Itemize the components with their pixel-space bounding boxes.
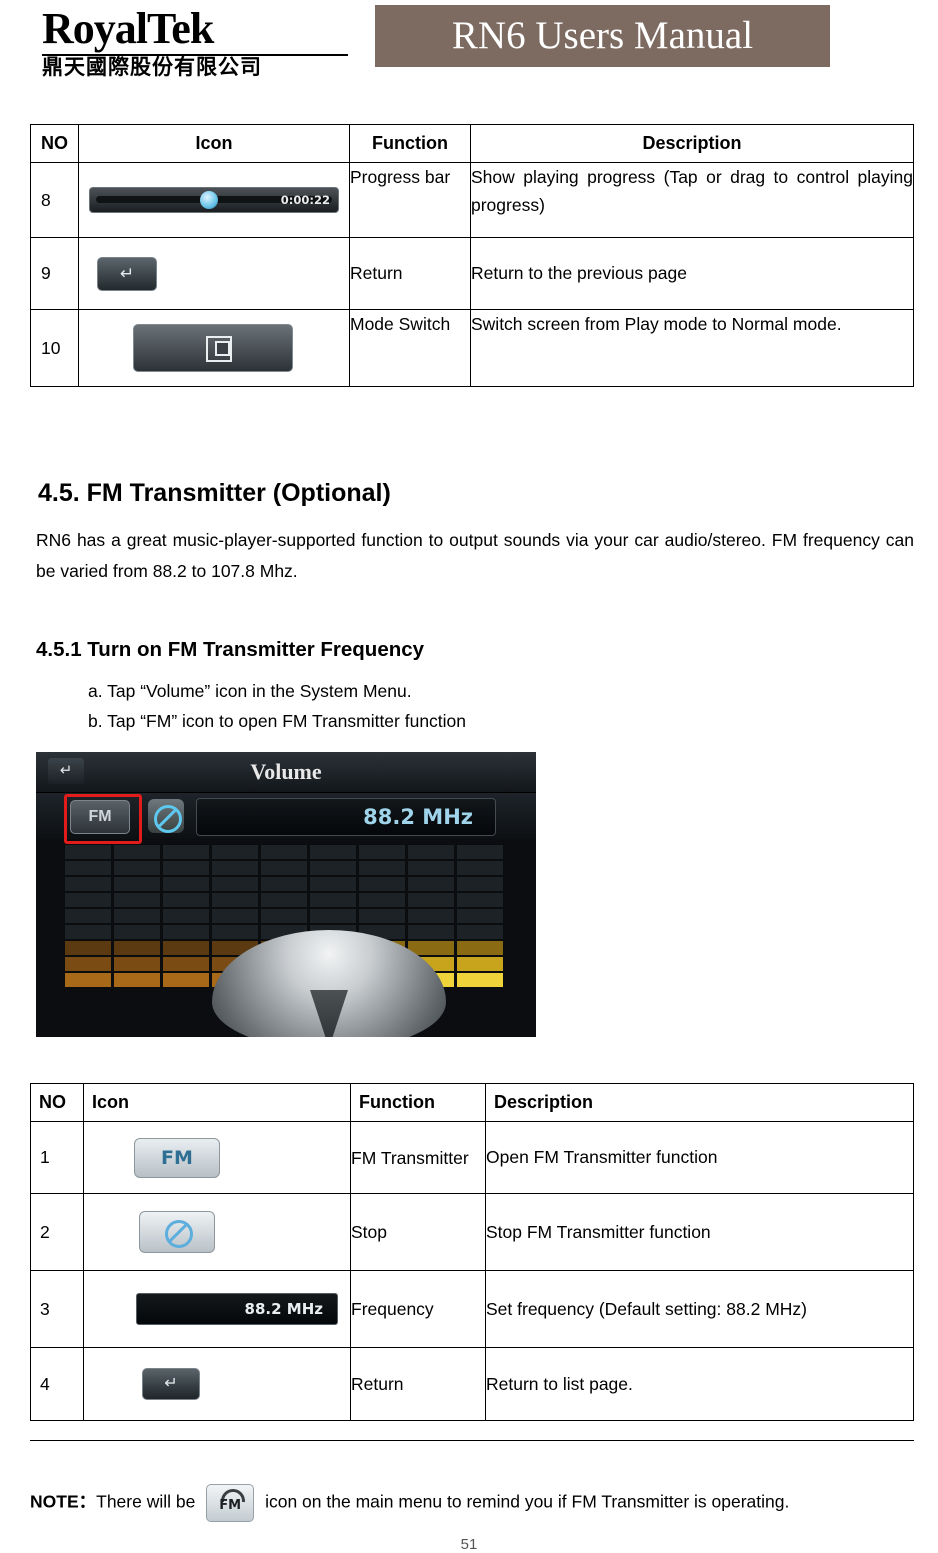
- section-paragraph: RN6 has a great music-player-supported f…: [36, 525, 914, 587]
- progress-time-label: 0:00:22: [281, 188, 330, 212]
- description-cell: Return to list page.: [486, 1348, 914, 1421]
- equalizer-segment: [309, 908, 357, 924]
- manual-title-banner: RN6 Users Manual: [375, 5, 830, 67]
- equalizer-segment: [64, 940, 112, 956]
- frequency-field-icon[interactable]: 88.2 MHz: [136, 1293, 338, 1325]
- description-cell: Stop FM Transmitter function: [486, 1194, 914, 1271]
- return-icon[interactable]: ↵: [97, 257, 157, 291]
- logo-divider: [42, 54, 348, 56]
- stop-icon[interactable]: [139, 1211, 215, 1253]
- table-row: 4 ↵ Return Return to list page.: [31, 1348, 914, 1421]
- function-cell: Return: [351, 1348, 486, 1421]
- knob-notch: [310, 990, 348, 1037]
- equalizer-segment: [309, 860, 357, 876]
- equalizer-segment: [113, 876, 161, 892]
- logo-chinese-name: 鼎天國際股份有限公司: [42, 54, 362, 80]
- row-number: 1: [31, 1122, 84, 1194]
- equalizer-segment: [64, 892, 112, 908]
- icon-cell: ↵: [79, 238, 350, 310]
- row-number: 2: [31, 1194, 84, 1271]
- equalizer-segment: [309, 876, 357, 892]
- icon-cell: 88.2 MHz: [84, 1271, 351, 1348]
- equalizer-segment: [260, 908, 308, 924]
- function-cell: FM Transmitter: [351, 1122, 486, 1194]
- equalizer-segment: [162, 892, 210, 908]
- function-cell: Mode Switch: [350, 310, 471, 387]
- column-header-function: Function: [350, 125, 471, 163]
- fm-status-icon-label: FM: [207, 1493, 253, 1519]
- equalizer-segment: [211, 908, 259, 924]
- step-item-a: a. Tap “Volume” icon in the System Menu.: [88, 676, 412, 706]
- table-header-row: NO Icon Function Description: [31, 1084, 914, 1122]
- equalizer-segment: [407, 908, 455, 924]
- column-header-no: NO: [31, 1084, 84, 1122]
- equalizer-segment: [162, 908, 210, 924]
- equalizer-segment: [456, 972, 504, 988]
- equalizer-segment: [456, 956, 504, 972]
- progress-bar-icon[interactable]: 0:00:22: [89, 187, 339, 213]
- royaltek-logo: RoyalTek 鼎天國際股份有限公司: [42, 4, 362, 80]
- manual-page: RoyalTek 鼎天國際股份有限公司 RN6 Users Manual NO …: [0, 0, 938, 1551]
- screenshot-frequency-value: 88.2 MHz: [363, 799, 473, 835]
- screenshot-frequency-field[interactable]: 88.2 MHz: [196, 798, 496, 836]
- icon-table-fm: NO Icon Function Description 1 FM FM Tra…: [30, 1083, 914, 1421]
- equalizer-segment: [113, 972, 161, 988]
- row-number: 8: [31, 163, 79, 238]
- equalizer-segment: [162, 876, 210, 892]
- equalizer-segment: [162, 924, 210, 940]
- equalizer-segment: [113, 844, 161, 860]
- frequency-field-value: 88.2 MHz: [245, 1294, 323, 1324]
- equalizer-segment: [260, 844, 308, 860]
- table-row: 8 0:00:22 Progress bar Show playing prog…: [31, 163, 914, 238]
- equalizer-segment: [358, 844, 406, 860]
- icon-cell: 0:00:22: [79, 163, 350, 238]
- equalizer-segment: [309, 844, 357, 860]
- equalizer-segment: [358, 876, 406, 892]
- equalizer-segment: [211, 844, 259, 860]
- row-number: 9: [31, 238, 79, 310]
- equalizer-segment: [407, 924, 455, 940]
- equalizer-segment: [162, 940, 210, 956]
- column-header-no: NO: [31, 125, 79, 163]
- icon-cell: ↵: [84, 1348, 351, 1421]
- screenshot-stop-button[interactable]: [148, 799, 184, 833]
- equalizer-segment: [456, 876, 504, 892]
- note-line: NOTE：There will be FM icon on the main m…: [30, 1484, 914, 1522]
- logo-wordmark: RoyalTek: [42, 4, 362, 54]
- equalizer-segment: [162, 956, 210, 972]
- equalizer-segment: [162, 972, 210, 988]
- equalizer-segment: [358, 860, 406, 876]
- equalizer-segment: [407, 892, 455, 908]
- equalizer-segment: [211, 892, 259, 908]
- page-title: RN6 Users Manual: [375, 5, 830, 67]
- table-row: 3 88.2 MHz Frequency Set frequency (Defa…: [31, 1271, 914, 1348]
- function-cell: Progress bar: [350, 163, 471, 238]
- return-icon[interactable]: ↵: [142, 1368, 200, 1400]
- function-cell: Return: [350, 238, 471, 310]
- equalizer-segment: [113, 892, 161, 908]
- equalizer-segment: [456, 940, 504, 956]
- row-number: 3: [31, 1271, 84, 1348]
- equalizer-segment: [260, 892, 308, 908]
- row-number: 4: [31, 1348, 84, 1421]
- equalizer-segment: [113, 956, 161, 972]
- description-cell: Switch screen from Play mode to Normal m…: [471, 310, 914, 387]
- icon-cell: FM: [84, 1122, 351, 1194]
- description-cell: Return to the previous page: [471, 238, 914, 310]
- equalizer-segment: [64, 876, 112, 892]
- fm-icon[interactable]: FM: [134, 1138, 220, 1178]
- equalizer-segment: [64, 908, 112, 924]
- equalizer-segment: [162, 860, 210, 876]
- note-text-before: There will be: [96, 1492, 195, 1512]
- table-header-row: NO Icon Function Description: [31, 125, 914, 163]
- stop-icon: [154, 805, 182, 833]
- equalizer-segment: [211, 924, 259, 940]
- equalizer-segment: [309, 892, 357, 908]
- description-cell: Show playing progress (Tap or drag to co…: [471, 163, 914, 238]
- equalizer-segment: [113, 924, 161, 940]
- description-cell: Open FM Transmitter function: [486, 1122, 914, 1194]
- screenshot-return-icon[interactable]: ↵: [48, 758, 84, 784]
- equalizer-segment: [260, 876, 308, 892]
- equalizer-segment: [407, 876, 455, 892]
- equalizer-segment: [407, 860, 455, 876]
- description-cell: Set frequency (Default setting: 88.2 MHz…: [486, 1271, 914, 1348]
- subsection-heading: 4.5.1 Turn on FM Transmitter Frequency: [36, 638, 424, 662]
- column-header-icon: Icon: [79, 125, 350, 163]
- icon-table-playmode: NO Icon Function Description 8 0:00:22 P…: [30, 124, 914, 387]
- fm-status-icon: FM: [206, 1484, 254, 1522]
- equalizer-segment: [456, 924, 504, 940]
- equalizer-segment: [113, 908, 161, 924]
- equalizer-segment: [64, 972, 112, 988]
- progress-thumb[interactable]: [200, 191, 218, 209]
- step-item-b: b. Tap “FM” icon to open FM Transmitter …: [88, 706, 466, 736]
- equalizer-segment: [260, 860, 308, 876]
- equalizer-segment: [64, 844, 112, 860]
- function-cell: Stop: [351, 1194, 486, 1271]
- page-number: 51: [0, 1536, 938, 1553]
- mode-switch-glyph: [206, 336, 232, 362]
- equalizer-segment: [456, 844, 504, 860]
- footer-divider: [30, 1440, 914, 1441]
- equalizer-segment: [113, 940, 161, 956]
- mode-switch-icon[interactable]: [133, 324, 293, 372]
- table-row: 1 FM FM Transmitter Open FM Transmitter …: [31, 1122, 914, 1194]
- section-heading: 4.5. FM Transmitter (Optional): [38, 479, 391, 508]
- equalizer-segment: [456, 892, 504, 908]
- table-row: 10 Mode Switch Switch screen from Play m…: [31, 310, 914, 387]
- equalizer-segment: [162, 844, 210, 860]
- column-header-description: Description: [471, 125, 914, 163]
- equalizer-segment: [64, 924, 112, 940]
- stop-glyph: [165, 1220, 193, 1248]
- table-row: 9 ↵ Return Return to the previous page: [31, 238, 914, 310]
- icon-cell: [79, 310, 350, 387]
- row-number: 10: [31, 310, 79, 387]
- equalizer-segment: [64, 956, 112, 972]
- column-header-icon: Icon: [84, 1084, 351, 1122]
- volume-screen-screenshot: Volume ↵ FM 88.2 MHz: [36, 752, 536, 1037]
- note-label: NOTE：: [30, 1492, 96, 1512]
- fm-highlight-box: [64, 794, 142, 844]
- screenshot-title: Volume: [36, 752, 536, 792]
- equalizer-segment: [358, 908, 406, 924]
- page-header: RoyalTek 鼎天國際股份有限公司 RN6 Users Manual: [0, 0, 938, 100]
- table-row: 2 Stop Stop FM Transmitter function: [31, 1194, 914, 1271]
- equalizer-segment: [456, 860, 504, 876]
- equalizer-segment: [211, 860, 259, 876]
- column-header-function: Function: [351, 1084, 486, 1122]
- function-cell: Frequency: [351, 1271, 486, 1348]
- note-text-after: icon on the main menu to remind you if F…: [265, 1492, 789, 1512]
- equalizer-segment: [358, 892, 406, 908]
- icon-cell: [84, 1194, 351, 1271]
- equalizer-segment: [456, 908, 504, 924]
- equalizer-segment: [113, 860, 161, 876]
- equalizer-segment: [211, 876, 259, 892]
- equalizer-segment: [407, 844, 455, 860]
- column-header-description: Description: [486, 1084, 914, 1122]
- equalizer-segment: [64, 860, 112, 876]
